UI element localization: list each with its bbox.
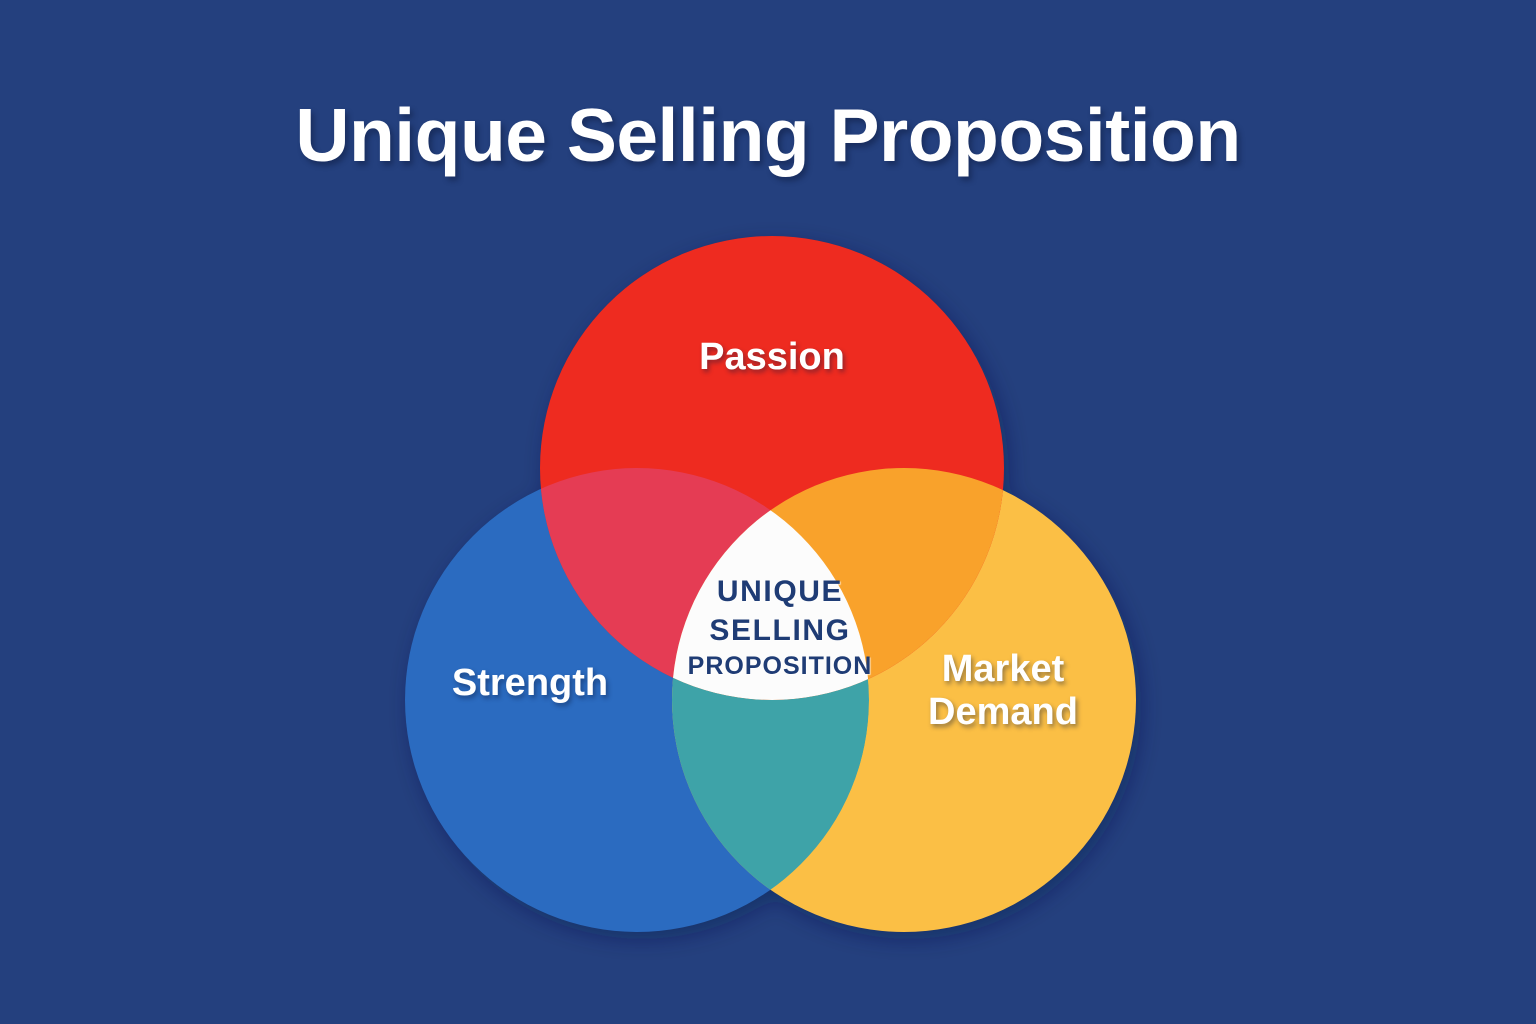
venn-label-market-demand-line-2: Demand xyxy=(928,691,1078,733)
venn-label-strength: Strength xyxy=(385,662,675,705)
slide-canvas: Unique Selling Proposition xyxy=(0,0,1536,1024)
venn-label-market-demand-line-1: Market xyxy=(942,648,1065,690)
venn-label-passion: Passion xyxy=(612,336,932,379)
venn-label-center: UNIQUE SELLING PROPOSITION xyxy=(652,572,908,683)
venn-diagram xyxy=(0,0,1536,1024)
center-line-2: SELLING xyxy=(652,611,908,650)
venn-label-market-demand: MarketDemand xyxy=(878,648,1128,733)
center-line-1: UNIQUE xyxy=(652,572,908,611)
center-line-3: PROPOSITION xyxy=(652,650,908,683)
